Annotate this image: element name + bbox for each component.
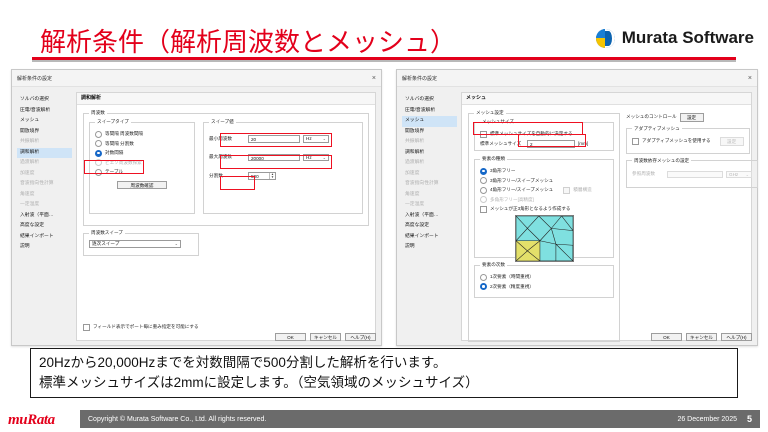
- sweep-type-legend: スイープタイプ: [95, 119, 131, 125]
- radio-label-piezo-search: ピエゾ周波数探索: [105, 160, 142, 166]
- mesh-setting-group: メッシュ設定 メッシュサイズ 標準メッシュサイズを自動的に決定する 標準メッシュ…: [468, 110, 620, 342]
- mesh-size-group: メッシュサイズ 標準メッシュサイズを自動的に決定する 標準メッシュサイズ 2 […: [474, 119, 614, 151]
- radio-label-tri-free: 3角形フリー: [490, 168, 516, 174]
- radio-label-equal-freq-interval: 等間隔 周波数間隔: [105, 131, 143, 137]
- dialog-left-sidebar: ソルバの選択 圧電/音波解析 メッシュ 開放境界 共振解析 調和解析 過渡解析 …: [17, 92, 72, 341]
- regular-triangle-checkbox[interactable]: [480, 206, 487, 213]
- dialog-right-sidebar: ソルバの選択 圧電/音波解析 メッシュ 開放境界 共振解析 調和解析 過渡解析 …: [402, 92, 457, 341]
- radio-row-equal-division[interactable]: 等間隔 分割数: [95, 140, 189, 147]
- slide-footer: muRata Copyright © Murata Software Co., …: [0, 408, 768, 432]
- freq-dependent-mesh-group: 周波数依存メッシュの設定 参照周波数 GHz ⌄: [626, 158, 758, 188]
- sidebar-item-resonance: 共振解析: [17, 137, 72, 148]
- radio-quad-sweep-icon[interactable]: [480, 187, 487, 194]
- chevron-down-icon: ⌄: [746, 171, 749, 179]
- mesh-control-row: メッシュのコントロール 設定: [626, 113, 745, 122]
- regular-triangle-label: メッシュが正3角形となるよう作成する: [490, 206, 571, 212]
- radio-label-second-order: 2次要素（精度重視）: [490, 284, 534, 290]
- dialog-left-buttons: OK キャンセル ヘルプ(H): [275, 333, 376, 342]
- sidebar-item-solver[interactable]: ソルバの選択: [17, 95, 72, 106]
- reference-frequency-label: 参照周波数: [632, 171, 664, 177]
- adaptive-mesh-row[interactable]: アダプティブメッシュを使用する 設定: [632, 137, 744, 146]
- spinner-arrows-icon[interactable]: ▲▼: [269, 173, 275, 179]
- radio-row-tri-free[interactable]: 3角形フリー: [480, 168, 608, 175]
- standard-mesh-size-row: 標準メッシュサイズ 2 [mm]: [480, 140, 608, 148]
- radio-row-equal-interval[interactable]: 等間隔 周波数間隔: [95, 131, 189, 138]
- mesh-control-label: メッシュのコントロール: [626, 114, 677, 120]
- sidebar-item-constant-temp: 一定温度: [402, 200, 457, 211]
- sidebar-item-piezo-acoustic[interactable]: 圧電/音波解析: [402, 106, 457, 117]
- sidebar-item-result-import[interactable]: 結果インポート: [402, 232, 457, 243]
- radio-log-interval-icon[interactable]: [95, 150, 102, 157]
- mesh-preview-image: [515, 215, 574, 262]
- dialog-right-buttons: OK キャンセル ヘルプ(H): [651, 333, 752, 342]
- sidebar-item-mesh[interactable]: メッシュ: [402, 116, 457, 127]
- dialog-left-titlebar: 解析条件の設定 ×: [12, 70, 381, 87]
- regular-triangle-row[interactable]: メッシュが正3角形となるよう作成する: [480, 206, 608, 213]
- page-number: 5: [747, 414, 752, 424]
- close-icon[interactable]: ×: [372, 75, 376, 82]
- radio-piezo-search-icon: [95, 159, 102, 166]
- division-row: 分割数 500 ▲▼: [209, 172, 357, 180]
- check-frequency-button[interactable]: 周波数確認: [117, 181, 167, 190]
- sidebar-item-advanced[interactable]: 高度な設定: [17, 221, 72, 232]
- mesh-control-button[interactable]: 設定: [680, 113, 704, 122]
- min-frequency-unit-select[interactable]: Hz ⌄: [303, 135, 329, 143]
- reference-frequency-unit-value: GHz: [729, 171, 744, 179]
- caption-box: 20Hzから20,000Hzまでを対数間隔で500分割した解析を行います。 標準…: [30, 348, 738, 398]
- panel-title: 調和解析: [77, 93, 375, 105]
- sidebar-item-transient: 過渡解析: [402, 158, 457, 169]
- dialog-harmonic-analysis: 解析条件の設定 × ソルバの選択 圧電/音波解析 メッシュ 開放境界 共振解析 …: [11, 69, 382, 346]
- dialog-left-title: 解析条件の設定: [17, 75, 372, 82]
- cancel-button[interactable]: キャンセル: [686, 333, 717, 342]
- sweep-type-group: スイープタイプ 等間隔 周波数間隔 等間隔 分割数: [89, 119, 195, 214]
- sidebar-item-directivity: 音波指向性計算: [402, 179, 457, 190]
- radio-label-first-order: 1次要素（時間重視）: [490, 274, 534, 280]
- layered-structure-label: 積層構造: [573, 187, 591, 193]
- max-frequency-unit-value: Hz: [306, 154, 321, 162]
- title-rule-gray: [32, 60, 736, 62]
- sidebar-item-incident-wave[interactable]: 入射波（平面…: [17, 211, 72, 222]
- copyright-text: Copyright © Murata Software Co., Ltd. Al…: [88, 416, 677, 423]
- frequency-sweep-value: 逐次スイープ: [92, 240, 173, 248]
- radio-row-second-order[interactable]: 2次要素（精度重視）: [480, 283, 608, 290]
- footer-date: 26 December 2025: [677, 416, 737, 423]
- radio-row-log-interval[interactable]: 対数間隔: [95, 150, 189, 157]
- sweep-value-legend: スイープ値: [209, 119, 236, 125]
- freq-dependent-mesh-legend: 周波数依存メッシュの設定: [632, 158, 691, 164]
- sidebar-item-directivity: 音波指向性計算: [17, 179, 72, 190]
- layered-structure-checkbox: [563, 187, 570, 194]
- footer-bar: Copyright © Murata Software Co., Ltd. Al…: [80, 410, 760, 428]
- radio-poly-free-icon: [480, 196, 487, 203]
- element-type-group: 要素の種類 3角形フリー 3角形フリー/スイープメッシュ: [474, 156, 614, 258]
- port-weight-label: フィールド表示でポート毎に重み指定を可能にする: [93, 324, 199, 330]
- adaptive-mesh-group: アダプティブメッシュ アダプティブメッシュを使用する 設定: [626, 126, 750, 154]
- radio-second-order-icon[interactable]: [480, 283, 487, 290]
- radio-label-quad-sweep: 4角形フリー/スイープメッシュ: [490, 187, 553, 193]
- standard-mesh-size-input[interactable]: 2: [527, 140, 575, 148]
- min-frequency-unit-value: Hz: [306, 135, 321, 143]
- brand-logo-group: Murata Software: [596, 28, 754, 48]
- radio-table-icon[interactable]: [95, 169, 102, 176]
- brand-name: Murata Software: [622, 28, 754, 48]
- frequency-sweep-legend: 周波数スイープ: [89, 230, 125, 236]
- element-order-legend: 要素の次数: [480, 262, 507, 268]
- mesh-panel: メッシュ メッシュ設定 メッシュサイズ 標準メッシュサイズを自動的に決定する: [461, 92, 752, 341]
- radio-equal-freq-interval-icon[interactable]: [95, 131, 102, 138]
- adaptive-mesh-legend: アダプティブメッシュ: [632, 126, 682, 132]
- adaptive-mesh-settings-button: 設定: [720, 137, 744, 146]
- radio-label-log-interval: 対数間隔: [105, 150, 123, 156]
- radio-label-tri-sweep: 3角形フリー/スイープメッシュ: [490, 178, 553, 184]
- min-frequency-input[interactable]: 20: [248, 135, 300, 143]
- dialog-mesh: 解析条件の設定 × ソルバの選択 圧電/音波解析 メッシュ 開放境界 共振解析 …: [396, 69, 758, 346]
- radio-tri-free-icon[interactable]: [480, 168, 487, 175]
- standard-mesh-size-label: 標準メッシュサイズ: [480, 141, 524, 147]
- adaptive-mesh-label: アダプティブメッシュを使用する: [642, 138, 711, 144]
- slide: 解析条件（解析周波数とメッシュ） Murata Software 解析条件の設定…: [0, 0, 768, 432]
- panel-title: メッシュ: [462, 93, 751, 105]
- frequency-group: 周波数 スイープタイプ 等間隔 周波数間隔 等間隔 分割数: [83, 110, 369, 226]
- harmonic-panel: 調和解析 周波数 スイープタイプ 等間隔 周波数間隔: [76, 92, 376, 341]
- element-order-group: 要素の次数 1次要素（時間重視） 2次要素（精度重視）: [474, 262, 614, 298]
- dialog-right-title: 解析条件の設定: [402, 75, 748, 82]
- radio-row-poly-free: 多角形フリー[高精度]: [480, 196, 608, 203]
- ok-button[interactable]: OK: [651, 333, 682, 342]
- standard-mesh-size-unit: [mm]: [578, 141, 588, 146]
- sidebar-item-open-boundary[interactable]: 開放境界: [402, 127, 457, 138]
- radio-equal-division-icon[interactable]: [95, 140, 102, 147]
- min-frequency-row: 最小周波数 20 Hz ⌄: [209, 135, 357, 143]
- frequency-sweep-select[interactable]: 逐次スイープ ⌄: [89, 240, 181, 248]
- cancel-button[interactable]: キャンセル: [310, 333, 341, 342]
- max-frequency-row: 最大周波数 20000 Hz ⌄: [209, 154, 357, 162]
- element-type-legend: 要素の種類: [480, 156, 507, 162]
- sidebar-item-open-boundary[interactable]: 開放境界: [17, 127, 72, 138]
- caption-line-1: 20Hzから20,000Hzまでを対数間隔で500分割した解析を行います。: [39, 353, 729, 373]
- sidebar-item-transient: 過渡解析: [17, 158, 72, 169]
- radio-row-tri-sweep[interactable]: 3角形フリー/スイープメッシュ: [480, 177, 608, 184]
- radio-row-table[interactable]: テーブル: [95, 169, 189, 176]
- sidebar-item-mesh[interactable]: メッシュ: [17, 116, 72, 127]
- sidebar-item-angular-velocity: 角速度: [402, 190, 457, 201]
- reference-frequency-row: 参照周波数 GHz ⌄: [632, 171, 752, 179]
- reference-frequency-input: [667, 171, 723, 179]
- sidebar-item-advanced[interactable]: 高度な設定: [402, 221, 457, 232]
- murata-wordmark: muRata: [8, 412, 55, 429]
- sidebar-item-solver[interactable]: ソルバの選択: [402, 95, 457, 106]
- max-frequency-label: 最大周波数: [209, 154, 245, 160]
- sidebar-item-acceleration: 加速度: [402, 169, 457, 180]
- radio-row-quad-sweep[interactable]: 4角形フリー/スイープメッシュ 積層構造: [480, 187, 608, 194]
- chevron-down-icon: ⌄: [323, 135, 326, 143]
- sidebar-item-result-import[interactable]: 結果インポート: [17, 232, 72, 243]
- adaptive-mesh-checkbox[interactable]: [632, 138, 639, 145]
- auto-mesh-size-checkbox[interactable]: [480, 131, 487, 138]
- reference-frequency-unit-select: GHz ⌄: [726, 171, 752, 179]
- help-button[interactable]: ヘルプ(H): [721, 333, 752, 342]
- frequency-group-legend: 周波数: [89, 110, 107, 116]
- radio-label-table: テーブル: [105, 169, 123, 175]
- radio-label-poly-free: 多角形フリー[高精度]: [490, 197, 534, 203]
- sidebar-item-resonance: 共振解析: [402, 137, 457, 148]
- auto-mesh-size-label: 標準メッシュサイズを自動的に決定する: [490, 131, 573, 137]
- radio-first-order-icon[interactable]: [480, 274, 487, 281]
- help-button[interactable]: ヘルプ(H): [345, 333, 376, 342]
- min-frequency-label: 最小周波数: [209, 136, 245, 142]
- sweep-value-group: スイープ値 最小周波数 20 Hz ⌄: [203, 119, 363, 214]
- max-frequency-input[interactable]: 20000: [248, 154, 300, 162]
- max-frequency-unit-select[interactable]: Hz ⌄: [303, 154, 329, 162]
- sidebar-item-description[interactable]: 説明: [17, 242, 72, 253]
- sidebar-item-angular-velocity: 角速度: [17, 190, 72, 201]
- radio-label-equal-division: 等間隔 分割数: [105, 141, 134, 147]
- radio-tri-sweep-icon[interactable]: [480, 177, 487, 184]
- sidebar-item-acceleration: 加速度: [17, 169, 72, 180]
- sidebar-item-harmonic[interactable]: 調和解析: [402, 148, 457, 159]
- ok-button[interactable]: OK: [275, 333, 306, 342]
- port-weight-row[interactable]: フィールド表示でポート毎に重み指定を可能にする: [83, 324, 199, 331]
- port-weight-checkbox[interactable]: [83, 324, 90, 331]
- chevron-down-icon: ⌄: [323, 154, 326, 162]
- mesh-size-legend: メッシュサイズ: [480, 119, 516, 125]
- murata-globe-icon: [596, 29, 615, 48]
- division-label: 分割数: [209, 173, 245, 179]
- close-icon[interactable]: ×: [748, 75, 752, 82]
- radio-row-first-order[interactable]: 1次要素（時間重視）: [480, 274, 608, 281]
- division-stepper[interactable]: 500 ▲▼: [248, 172, 276, 180]
- sidebar-item-harmonic[interactable]: 調和解析: [17, 148, 72, 159]
- chevron-down-icon: ⌄: [175, 240, 178, 248]
- caption-line-2: 標準メッシュサイズは2mmに設定します。（空気領域のメッシュサイズ）: [39, 373, 729, 393]
- page-title: 解析条件（解析周波数とメッシュ）: [40, 22, 456, 59]
- sidebar-item-description[interactable]: 説明: [402, 242, 457, 253]
- division-value: 500: [249, 173, 269, 179]
- radio-row-piezo-search: ピエゾ周波数探索: [95, 159, 189, 166]
- frequency-sweep-group: 周波数スイープ 逐次スイープ ⌄: [83, 230, 199, 256]
- dialog-right-titlebar: 解析条件の設定 ×: [397, 70, 757, 87]
- sidebar-item-piezo-acoustic[interactable]: 圧電/音波解析: [17, 106, 72, 117]
- sidebar-item-constant-temp: 一定温度: [17, 200, 72, 211]
- auto-mesh-size-row[interactable]: 標準メッシュサイズを自動的に決定する: [480, 131, 608, 138]
- mesh-setting-legend: メッシュ設定: [474, 110, 506, 116]
- sidebar-item-incident-wave[interactable]: 入射波（平面…: [402, 211, 457, 222]
